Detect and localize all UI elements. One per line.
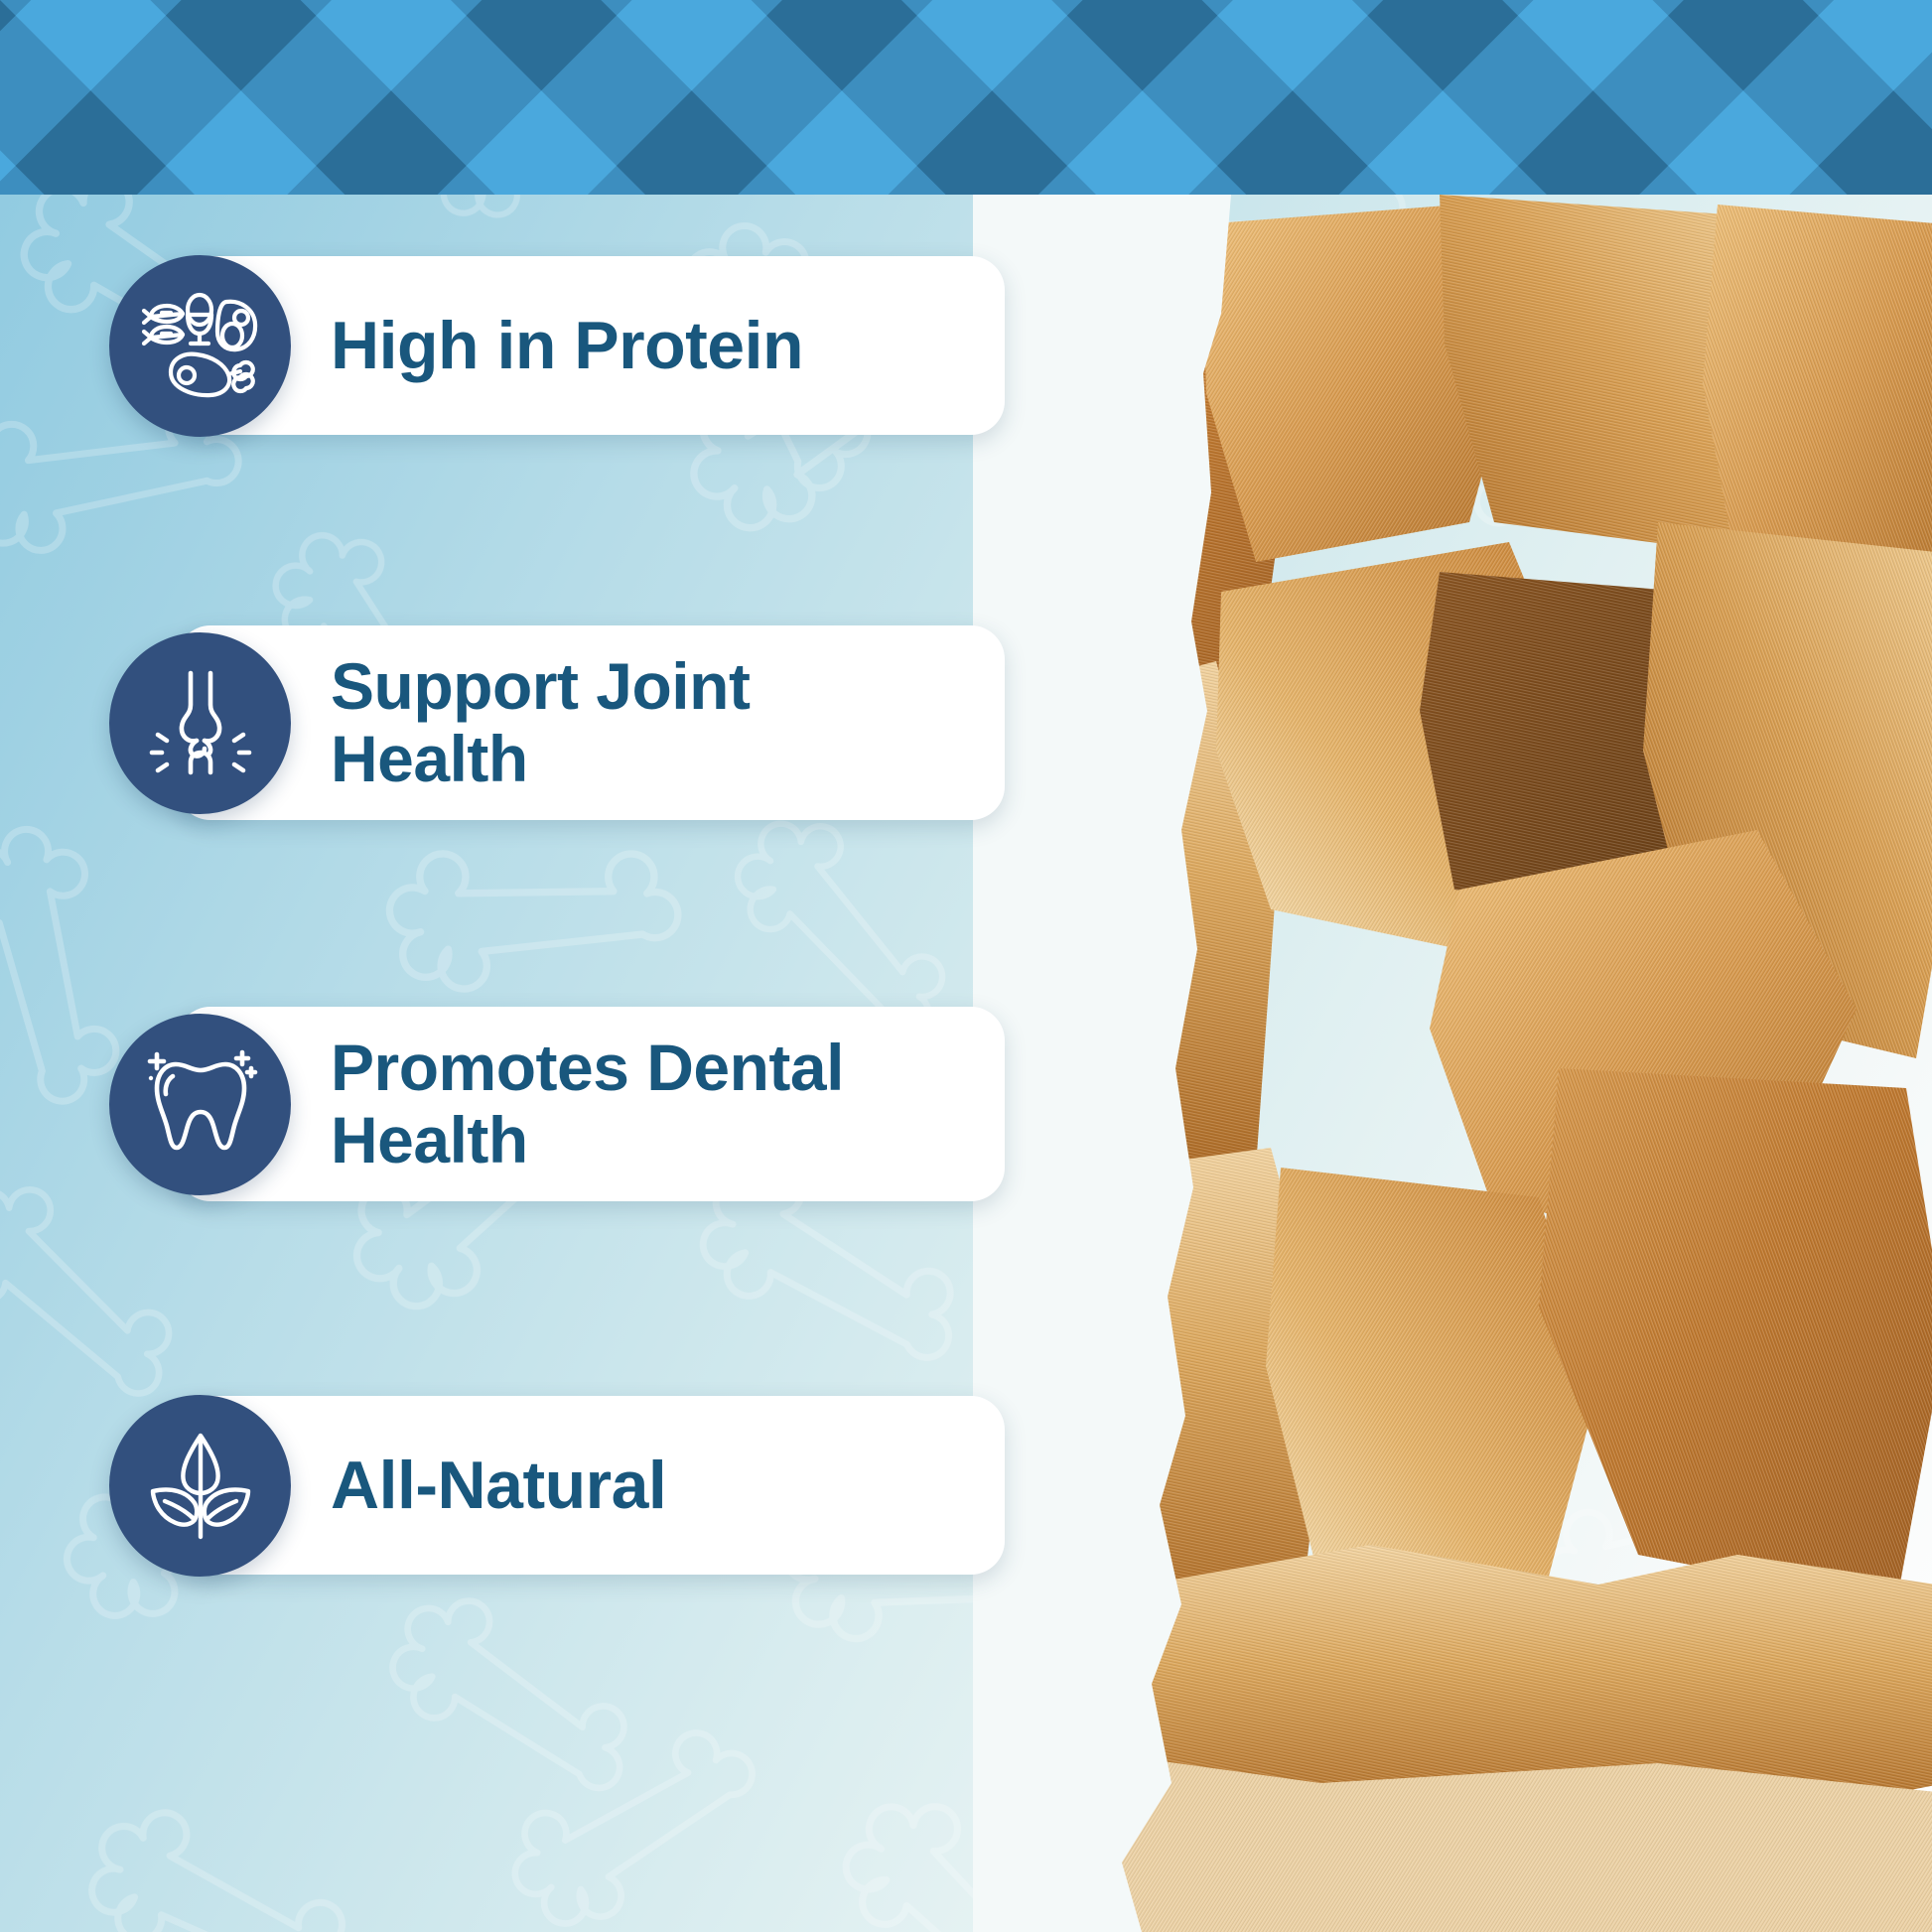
feature-pill-natural[interactable]: All-Natural — [177, 1396, 1005, 1575]
feature-list: High in Protein — [0, 195, 1092, 1932]
ham-leg-glyph — [171, 354, 253, 395]
feature-pill-protein[interactable]: High in Protein — [177, 256, 1005, 435]
bone-joint-icon — [109, 632, 291, 814]
steak-glyph — [217, 302, 255, 349]
gingham-header — [0, 0, 1932, 195]
product-benefits-graphic: High in Protein — [0, 0, 1932, 1932]
feature-pill-joint[interactable]: Support Joint Health — [177, 625, 1005, 820]
egg-in-cup-glyph — [188, 295, 211, 344]
feature-label: Promotes Dental Health — [331, 1032, 844, 1175]
fish-glyph-2 — [144, 327, 183, 344]
feature-label: Support Joint Health — [331, 650, 750, 794]
feature-label: All-Natural — [331, 1449, 666, 1523]
feature-pill-dental[interactable]: Promotes Dental Health — [177, 1007, 1005, 1201]
feature-label: High in Protein — [331, 309, 803, 383]
protein-foods-icon — [109, 255, 291, 437]
fish-glyph — [144, 306, 183, 323]
tooth-icon — [109, 1014, 291, 1195]
leaf-plant-icon — [109, 1395, 291, 1577]
